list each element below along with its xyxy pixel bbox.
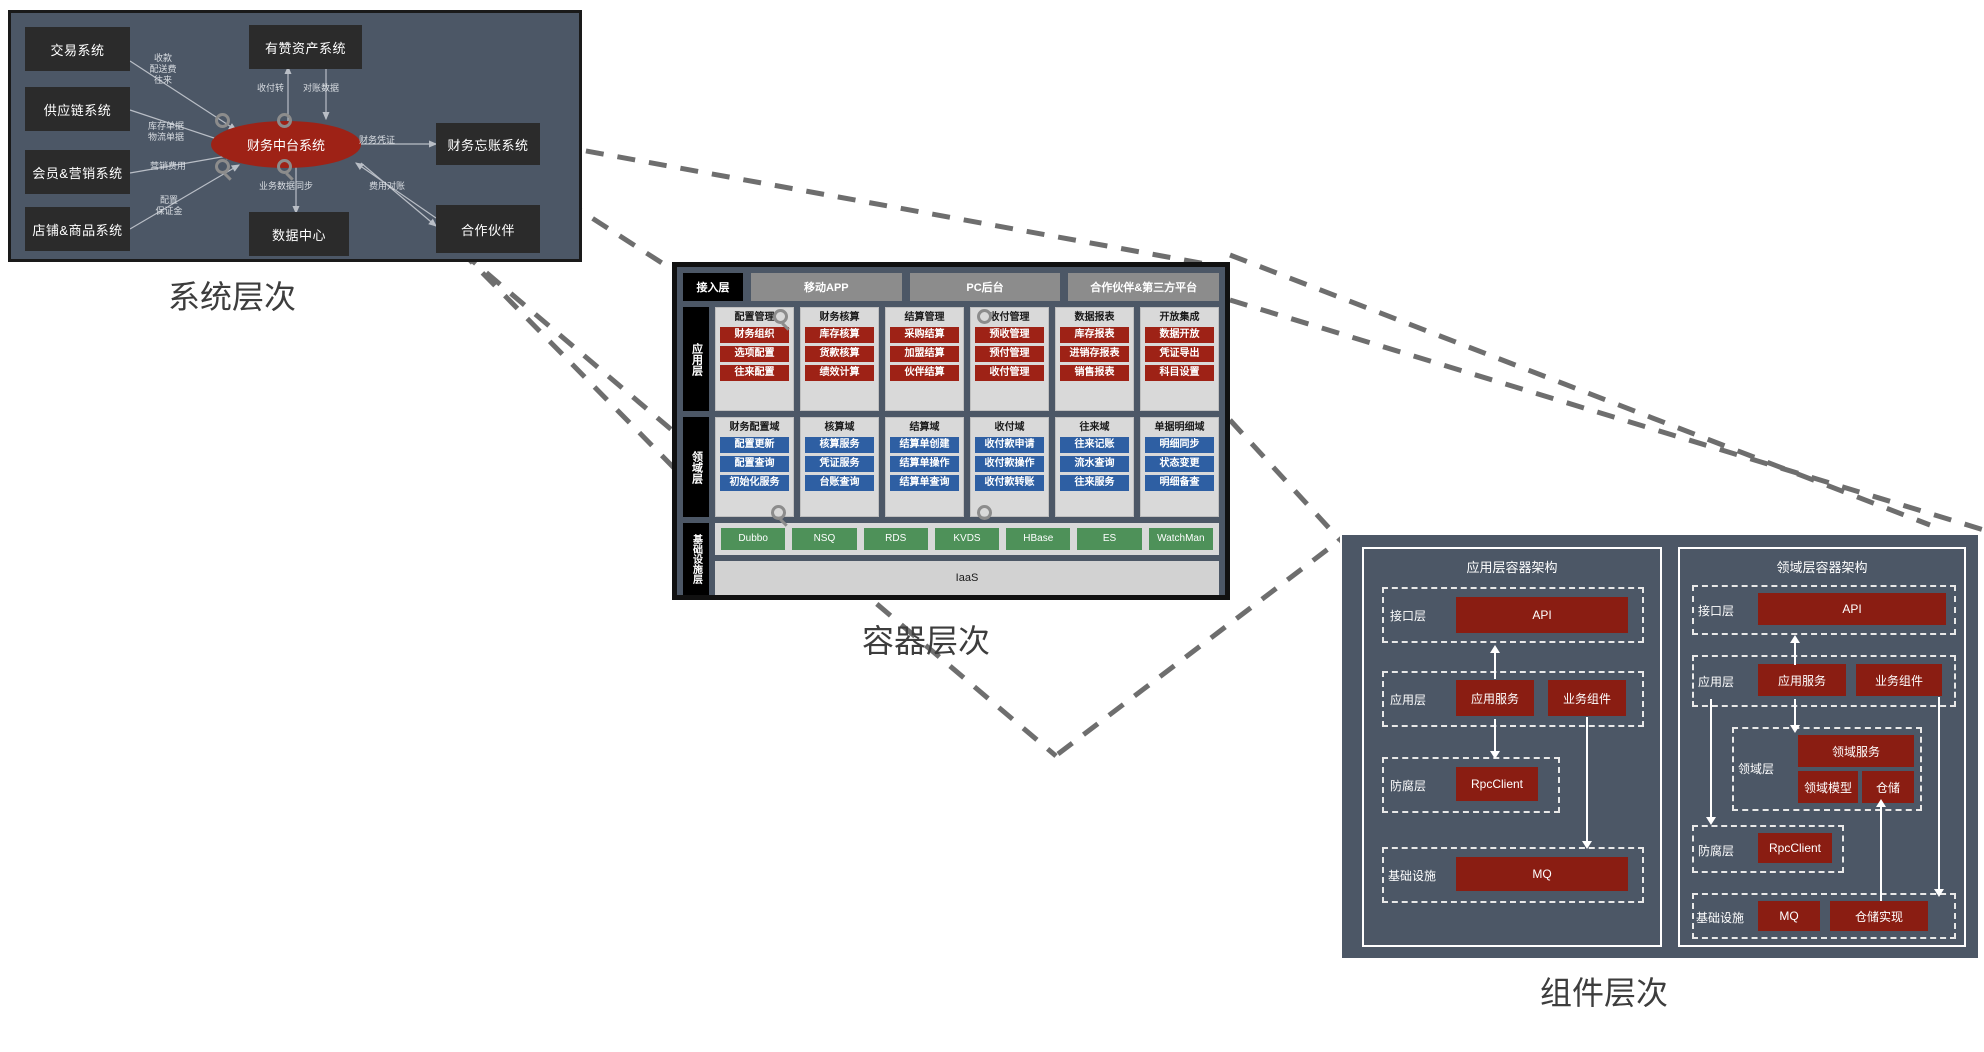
- iaas-band[interactable]: IaaS: [715, 561, 1219, 595]
- app-group-reports: 数据报表 库存报表 进销存报表 销售报表: [1055, 307, 1134, 411]
- app-cell[interactable]: 采购结算: [890, 327, 959, 343]
- node-label: 数据中心: [272, 225, 326, 244]
- infra-rds[interactable]: RDS: [864, 528, 928, 550]
- edge-label-data-sync: 业务数据同步: [259, 181, 313, 192]
- domain-cell[interactable]: 凭证服务: [805, 456, 874, 472]
- ring-icon-top-left: [215, 113, 230, 128]
- app-arrowhead-to-rpc: [1490, 751, 1500, 759]
- magnifier-icon-bottom-left: [215, 159, 230, 174]
- domain-arrowhead-to-rpc: [1706, 817, 1716, 825]
- domain-anticorruption-layer-label: 防腐层: [1698, 842, 1734, 859]
- domain-mq-box[interactable]: MQ: [1758, 901, 1820, 931]
- infra-es[interactable]: ES: [1077, 528, 1141, 550]
- group-title: 财务核算: [805, 311, 874, 324]
- tab-partner-third-party[interactable]: 合作伙伴&第三方平台: [1068, 273, 1219, 301]
- domain-cell[interactable]: 流水查询: [1060, 456, 1129, 472]
- tab-pc-backend[interactable]: PC后台: [910, 273, 1061, 301]
- infra-watchman[interactable]: WatchMan: [1149, 528, 1213, 550]
- edge-label-line: 营销费用: [138, 161, 198, 172]
- node-label: 会员&营销系统: [32, 163, 122, 182]
- domain-group-payment: 收付域 收付款申请 收付款操作 收付款转账: [970, 417, 1049, 517]
- node-label: 供应链系统: [44, 100, 112, 119]
- sidebar-label-infrastructure-layer: 基础设施层: [683, 523, 709, 595]
- domain-group-finance-config: 财务配置域 配置更新 配置查询 初始化服务: [715, 417, 794, 517]
- infra-dubbo[interactable]: Dubbo: [721, 528, 785, 550]
- system-node-partner[interactable]: 合作伙伴: [436, 205, 540, 253]
- app-business-component-box[interactable]: 业务组件: [1548, 680, 1626, 716]
- magnifier-icon-domain-layer: [771, 505, 786, 520]
- edge-label-line: 对账数据: [303, 83, 339, 94]
- edge-label-line: 配置: [141, 195, 197, 206]
- app-infrastructure-layer-label: 基础设施: [1388, 867, 1436, 884]
- domain-group-settlement: 结算域 结算单创建 结算单操作 结算单查询: [885, 417, 964, 517]
- tab-mobile-app[interactable]: 移动APP: [751, 273, 902, 301]
- domain-cell[interactable]: 往来服务: [1060, 475, 1129, 491]
- domain-api-box[interactable]: API: [1758, 593, 1946, 625]
- app-cell[interactable]: 收付管理: [975, 365, 1044, 381]
- edge-label-voucher: 财务凭证: [359, 135, 395, 146]
- app-cell[interactable]: 进销存报表: [1060, 346, 1129, 362]
- domain-cell[interactable]: 结算单查询: [890, 475, 959, 491]
- group-title: 往来域: [1060, 421, 1129, 434]
- domain-cell[interactable]: 明细同步: [1145, 437, 1214, 453]
- domain-cell[interactable]: 配置查询: [720, 456, 789, 472]
- system-layer-panel: 交易系统 供应链系统 会员&营销系统 店铺&商品系统 有赞资产系统 财务忘账系统…: [8, 10, 582, 262]
- domain-domain-service-box[interactable]: 领域服务: [1798, 735, 1914, 767]
- domain-arrow-appservice-to-rpc: [1710, 699, 1712, 819]
- domain-cell[interactable]: 往来记账: [1060, 437, 1129, 453]
- sidebar-label-text: 基础设施层: [690, 534, 703, 584]
- system-node-data-center[interactable]: 数据中心: [249, 212, 349, 256]
- domain-repository-box[interactable]: 仓储: [1862, 771, 1914, 803]
- domain-group-bill-detail: 单据明细域 明细同步 状态变更 明细备查: [1140, 417, 1219, 517]
- magnifier-icon-app-layer: [773, 309, 788, 324]
- app-cell[interactable]: 预收管理: [975, 327, 1044, 343]
- domain-infrastructure-layer-label: 基础设施: [1696, 909, 1744, 926]
- group-title: 单据明细域: [1145, 421, 1214, 434]
- app-anticorruption-layer-label: 防腐层: [1390, 777, 1426, 794]
- domain-layer-row: 财务配置域 配置更新 配置查询 初始化服务 核算域 核算服务 凭证服务 台账查询…: [715, 417, 1219, 517]
- domain-arrow-repoimpl-to-repo: [1880, 805, 1882, 901]
- infra-nsq[interactable]: NSQ: [792, 528, 856, 550]
- app-api-box[interactable]: API: [1456, 597, 1628, 633]
- tab-access-layer[interactable]: 接入层: [683, 273, 743, 301]
- infra-kvds[interactable]: KVDS: [935, 528, 999, 550]
- sidebar-label-domain-layer: 领域层: [683, 417, 709, 517]
- node-label: 财务忘账系统: [447, 135, 528, 154]
- domain-arrow-appservice-to-api: [1794, 641, 1796, 665]
- group-title: 结算管理: [890, 311, 959, 324]
- app-cell[interactable]: 加盟结算: [890, 346, 959, 362]
- app-cell[interactable]: 往来配置: [720, 365, 789, 381]
- app-cell[interactable]: 伙伴结算: [890, 365, 959, 381]
- edge-label-line: 收付转: [257, 83, 284, 94]
- system-node-asset[interactable]: 有赞资产系统: [249, 25, 362, 69]
- edge-label-line: 往来: [133, 75, 193, 86]
- edge-label-asset-out: 收付转: [257, 83, 284, 94]
- node-label: 合作伙伴: [461, 220, 515, 239]
- domain-interface-layer-label: 接口层: [1698, 602, 1734, 619]
- domain-domain-model-box[interactable]: 领域模型: [1798, 771, 1858, 803]
- app-application-layer-label: 应用层: [1390, 691, 1426, 708]
- domain-cell[interactable]: 台账查询: [805, 475, 874, 491]
- domain-cell[interactable]: 状态变更: [1145, 456, 1214, 472]
- domain-arrowhead-to-domainservice: [1790, 725, 1800, 733]
- caption-component-layer: 组件层次: [1540, 968, 1668, 1014]
- app-cell[interactable]: 科目设置: [1145, 365, 1214, 381]
- app-group-open-integration: 开放集成 数据开放 凭证导出 科目设置: [1140, 307, 1219, 411]
- group-title: 开放集成: [1145, 311, 1214, 324]
- domain-container-architecture-panel: 领域层容器架构 接口层 API 应用层 应用服务 业务组件 领域层 领域服务 领…: [1678, 547, 1966, 947]
- domain-rpcclient-box[interactable]: RpcClient: [1758, 833, 1832, 863]
- edge-label-line: 财务凭证: [359, 135, 395, 146]
- domain-business-component-box[interactable]: 业务组件: [1856, 664, 1942, 696]
- edge-label-line: 物流单据: [135, 132, 197, 143]
- component-layer-panel: 应用层容器架构 接口层 API 应用层 应用服务 业务组件 防腐层 RpcCli…: [1340, 533, 1980, 960]
- group-title: 结算域: [890, 421, 959, 434]
- app-mq-box[interactable]: MQ: [1456, 857, 1628, 891]
- app-arrow-appservice-to-rpc: [1494, 719, 1496, 755]
- domain-cell[interactable]: 收付款转账: [975, 475, 1044, 491]
- domain-cell[interactable]: 收付款申请: [975, 437, 1044, 453]
- sidebar-label-text: 应用层: [690, 343, 703, 376]
- app-arrowhead-to-mq: [1582, 841, 1592, 849]
- edge-label-shop: 配置 保证金: [141, 195, 197, 217]
- edge-label-asset-in: 对账数据: [303, 83, 339, 94]
- app-panel-title: 应用层容器架构: [1364, 557, 1660, 576]
- edge-label-supplychain: 库存单据 物流单据: [135, 121, 197, 143]
- app-cell[interactable]: 绩效计算: [805, 365, 874, 381]
- infrastructure-band: Dubbo NSQ RDS KVDS HBase ES WatchMan: [715, 523, 1219, 555]
- access-layer-tabrow: 接入层 移动APP PC后台 合作伙伴&第三方平台: [683, 273, 1219, 301]
- system-node-member-marketing[interactable]: 会员&营销系统: [25, 150, 130, 194]
- domain-application-service-box[interactable]: 应用服务: [1758, 664, 1846, 696]
- group-title: 收付域: [975, 421, 1044, 434]
- edge-label-trade: 收款 配送费 往来: [133, 53, 193, 86]
- system-node-trade[interactable]: 交易系统: [25, 27, 130, 71]
- sidebar-label-application-layer: 应用层: [683, 307, 709, 411]
- group-title: 数据报表: [1060, 311, 1129, 324]
- domain-arrowhead-to-api: [1790, 635, 1800, 643]
- edge-label-line: 库存单据: [135, 121, 197, 132]
- system-node-general-ledger[interactable]: 财务忘账系统: [436, 123, 540, 165]
- domain-cell[interactable]: 收付款操作: [975, 456, 1044, 472]
- app-cell[interactable]: 数据开放: [1145, 327, 1214, 343]
- sidebar-label-text: 领域层: [690, 451, 703, 484]
- edge-label-line: 费用对账: [369, 181, 405, 192]
- app-arrowhead-to-api: [1490, 645, 1500, 653]
- app-cell[interactable]: 预付管理: [975, 346, 1044, 362]
- edge-label-line: 保证金: [141, 206, 197, 217]
- app-cell[interactable]: 凭证导出: [1145, 346, 1214, 362]
- domain-arrowhead-to-repo: [1876, 799, 1886, 807]
- app-cell[interactable]: 选项配置: [720, 346, 789, 362]
- domain-group-current-account: 往来域 往来记账 流水查询 往来服务: [1055, 417, 1134, 517]
- edge-label-marketing: 营销费用: [138, 161, 198, 172]
- node-label: 有赞资产系统: [265, 38, 346, 57]
- app-rpcclient-box[interactable]: RpcClient: [1456, 767, 1538, 801]
- domain-panel-title: 领域层容器架构: [1680, 557, 1964, 576]
- app-cell[interactable]: 销售报表: [1060, 365, 1129, 381]
- system-node-shop-goods[interactable]: 店铺&商品系统: [25, 207, 130, 251]
- edge-label-fee-recon: 费用对账: [369, 181, 405, 192]
- application-layer-row: 配置管理 财务组织 选项配置 往来配置 财务核算 库存核算 货款核算 绩效计算 …: [715, 307, 1219, 411]
- app-cell[interactable]: 货款核算: [805, 346, 874, 362]
- domain-domain-layer-label: 领域层: [1738, 760, 1774, 777]
- node-label: 财务中台系统: [247, 135, 325, 154]
- app-arrow-appservice-to-api: [1494, 651, 1496, 679]
- app-application-service-box[interactable]: 应用服务: [1456, 680, 1534, 716]
- domain-cell[interactable]: 配置更新: [720, 437, 789, 453]
- domain-repository-impl-box[interactable]: 仓储实现: [1830, 901, 1928, 931]
- magnifier-icon-app-right: [977, 309, 992, 324]
- group-title: 财务配置域: [720, 421, 789, 434]
- domain-arrow-bizcomp-to-infra: [1938, 697, 1940, 895]
- infra-hbase[interactable]: HBase: [1006, 528, 1070, 550]
- caption-container-layer: 容器层次: [862, 616, 990, 662]
- app-cell[interactable]: 库存核算: [805, 327, 874, 343]
- caption-system-layer: 系统层次: [168, 272, 296, 318]
- edge-label-line: 业务数据同步: [259, 181, 313, 192]
- system-node-supplychain[interactable]: 供应链系统: [25, 87, 130, 131]
- domain-group-accounting: 核算域 核算服务 凭证服务 台账查询: [800, 417, 879, 517]
- domain-cell[interactable]: 初始化服务: [720, 475, 789, 491]
- edge-label-line: 收款: [133, 53, 193, 64]
- edge-label-line: 配送费: [133, 64, 193, 75]
- app-cell[interactable]: 财务组织: [720, 327, 789, 343]
- app-interface-layer-label: 接口层: [1390, 607, 1426, 624]
- container-layer-panel: 接入层 移动APP PC后台 合作伙伴&第三方平台 应用层 领域层 基础设施层 …: [672, 262, 1230, 600]
- domain-application-layer-label: 应用层: [1698, 673, 1734, 690]
- domain-cell[interactable]: 结算单操作: [890, 456, 959, 472]
- app-container-architecture-panel: 应用层容器架构 接口层 API 应用层 应用服务 业务组件 防腐层 RpcCli…: [1362, 547, 1662, 947]
- node-label: 店铺&商品系统: [32, 220, 122, 239]
- group-title: 核算域: [805, 421, 874, 434]
- domain-cell[interactable]: 明细备查: [1145, 475, 1214, 491]
- ring-icon-top-right: [277, 113, 292, 128]
- app-group-settlement: 结算管理 采购结算 加盟结算 伙伴结算: [885, 307, 964, 411]
- domain-cell[interactable]: 结算单创建: [890, 437, 959, 453]
- app-cell[interactable]: 库存报表: [1060, 327, 1129, 343]
- magnifier-icon-bottom-right: [277, 159, 292, 174]
- domain-arrowhead-to-infra: [1934, 889, 1944, 897]
- node-label: 交易系统: [50, 40, 104, 59]
- magnifier-icon-domain-right: [977, 505, 992, 520]
- domain-cell[interactable]: 核算服务: [805, 437, 874, 453]
- app-arrow-bizcomp-to-mq: [1586, 717, 1588, 847]
- app-group-accounting: 财务核算 库存核算 货款核算 绩效计算: [800, 307, 879, 411]
